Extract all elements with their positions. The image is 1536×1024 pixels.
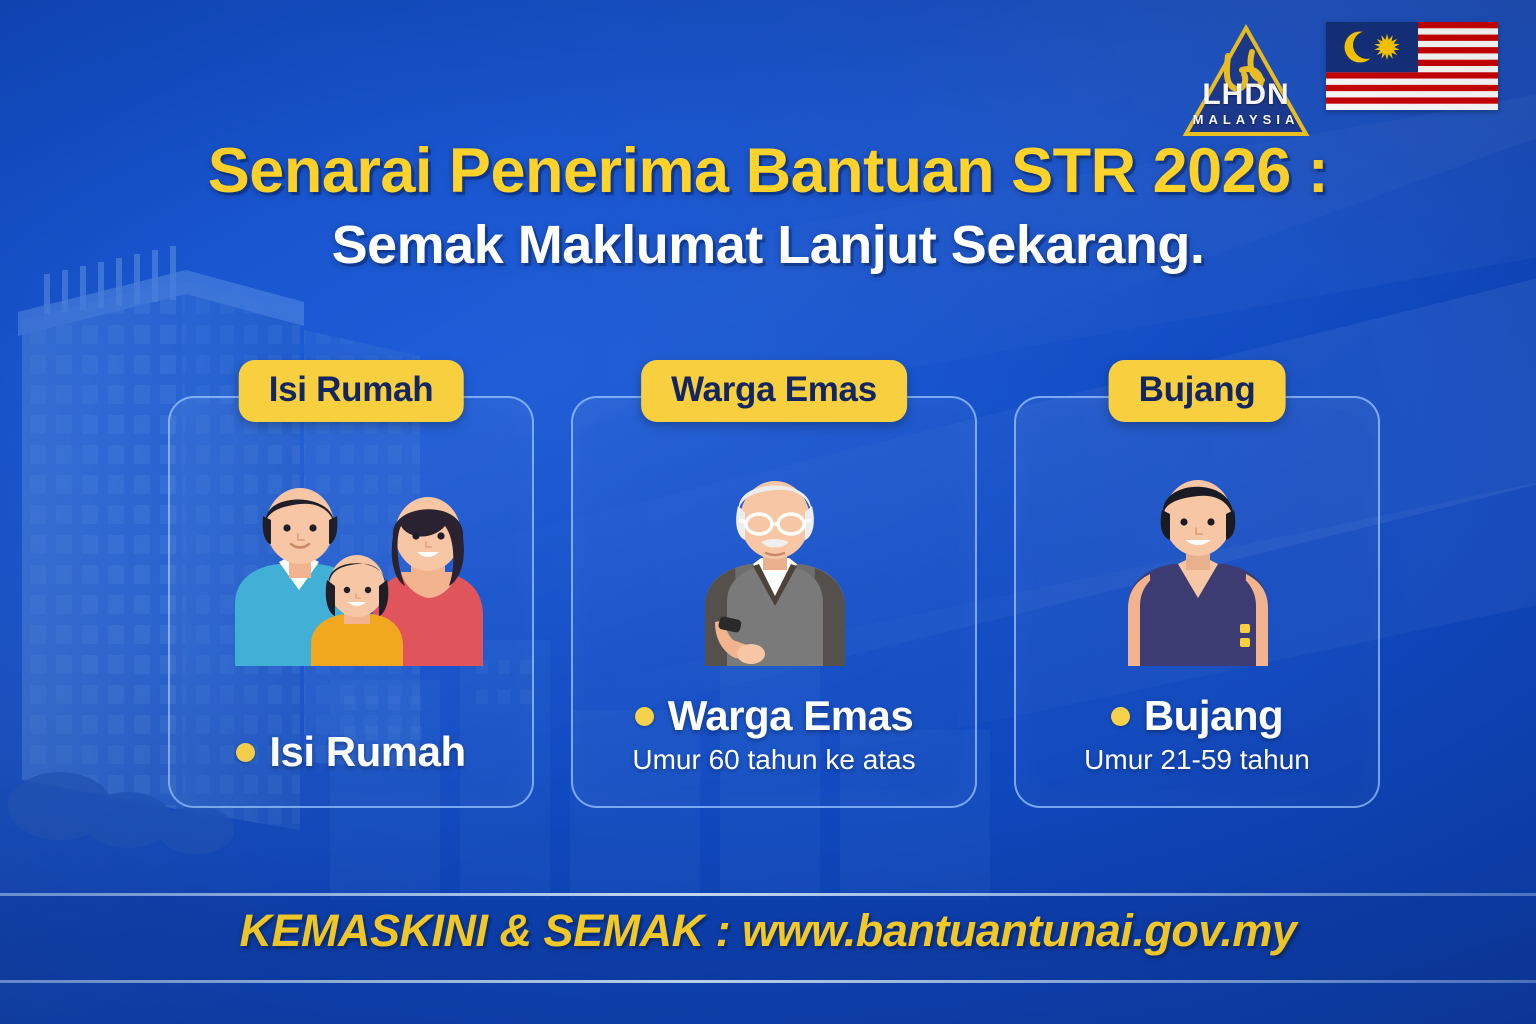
card-label-text: Bujang (1144, 692, 1283, 740)
malaysia-flag-icon (1326, 22, 1498, 110)
bullet-dot-icon (635, 707, 654, 726)
card-label-text: Warga Emas (668, 692, 914, 740)
card-label-block: Warga Emas Umur 60 tahun ke atas (573, 692, 975, 776)
bullet-dot-icon (1111, 707, 1130, 726)
page-subtitle: Semak Maklumat Lanjut Sekarang. (0, 217, 1536, 274)
card-badge-isi-rumah: Isi Rumah (239, 360, 464, 422)
card-label-block: Isi Rumah (170, 728, 532, 776)
lhdn-logo-subtitle: MALAYSIA (1182, 112, 1310, 127)
card-sublabel-bujang: Umur 21-59 tahun (1016, 744, 1378, 776)
footer-divider-top (0, 893, 1536, 896)
card-label-isi-rumah: Isi Rumah (170, 728, 532, 776)
category-card-warga-emas[interactable]: Warga Emas (571, 396, 977, 808)
family-illustration-icon (170, 454, 532, 666)
poster-canvas: LHDN MALAYSIA (0, 0, 1536, 1024)
card-label-text: Isi Rumah (269, 728, 465, 776)
title-block: Senarai Penerima Bantuan STR 2026 : Sema… (0, 138, 1536, 274)
category-card-row: Isi Rumah (168, 396, 1380, 808)
card-badge-bujang: Bujang (1109, 360, 1286, 422)
card-label-bujang: Bujang (1016, 692, 1378, 740)
category-card-isi-rumah[interactable]: Isi Rumah (168, 396, 534, 808)
elderly-man-illustration-icon (573, 454, 975, 666)
card-badge-warga-emas: Warga Emas (641, 360, 907, 422)
card-label-block: Bujang Umur 21-59 tahun (1016, 692, 1378, 776)
header-logo-row: LHDN MALAYSIA (1182, 22, 1498, 140)
card-label-warga-emas: Warga Emas (573, 692, 975, 740)
footer-website-text[interactable]: KEMASKINI & SEMAK : www.bantuantunai.gov… (0, 905, 1536, 957)
bullet-dot-icon (236, 743, 255, 762)
lhdn-logo: LHDN MALAYSIA (1182, 22, 1310, 140)
young-man-illustration-icon (1016, 454, 1378, 666)
lhdn-logo-name: LHDN (1182, 80, 1310, 110)
card-sublabel-warga-emas: Umur 60 tahun ke atas (573, 744, 975, 776)
page-title: Senarai Penerima Bantuan STR 2026 : (0, 138, 1536, 205)
footer-divider-bottom (0, 980, 1536, 983)
category-card-bujang[interactable]: Bujang (1014, 396, 1380, 808)
